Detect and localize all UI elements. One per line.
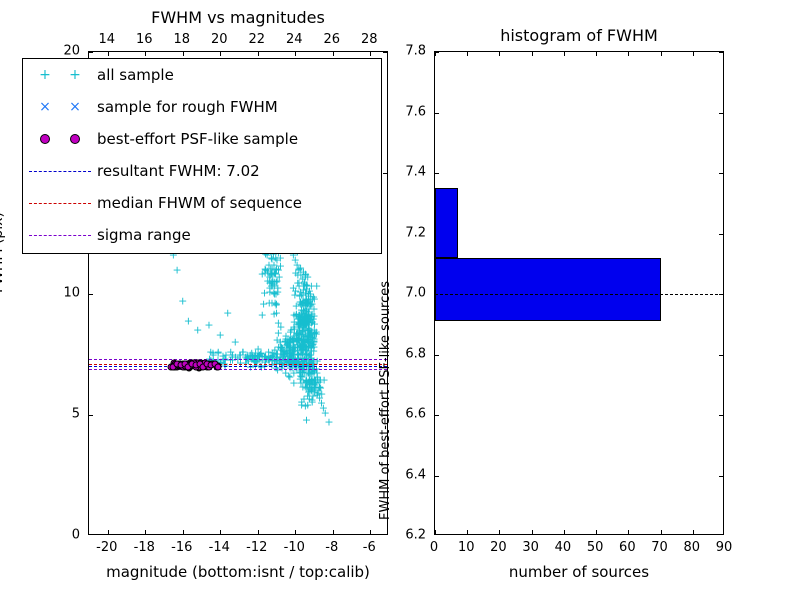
scatter-marker-plus: + <box>302 304 311 315</box>
scatter-marker-plus: + <box>303 325 312 336</box>
scatter-marker-plus: + <box>273 282 282 293</box>
scatter-marker-plus: + <box>302 311 311 322</box>
scatter-marker-plus: + <box>265 282 274 293</box>
scatter-marker-plus: + <box>297 329 306 340</box>
scatter-marker-plus: + <box>303 281 312 292</box>
scatter-marker-plus: + <box>270 268 279 279</box>
scatter-marker-plus: + <box>270 345 279 356</box>
legend-line <box>29 203 91 204</box>
scatter-marker-plus: + <box>313 390 322 401</box>
scatter-marker-plus: + <box>298 338 307 349</box>
legend-label: all sample <box>97 66 174 84</box>
scatter-marker-plus: + <box>272 276 281 287</box>
scatter-marker-plus: + <box>266 353 275 364</box>
scatter-marker-plus: + <box>297 309 306 320</box>
y-tick-right <box>719 234 723 235</box>
scatter-marker-plus: + <box>308 332 317 343</box>
scatter-marker-plus: + <box>310 382 319 393</box>
x-tick <box>467 530 468 534</box>
scatter-marker-plus: + <box>268 279 277 290</box>
scatter-marker-plus: + <box>297 371 306 382</box>
scatter-marker-plus: + <box>263 275 272 286</box>
x-tick-top <box>108 52 109 56</box>
scatter-marker-plus: + <box>273 287 282 298</box>
x-tick-label: -14 <box>209 540 230 555</box>
scatter-marker-plus: + <box>267 277 276 288</box>
left-y-axis-label: FWHM (pix) <box>0 212 6 293</box>
scatter-marker-plus: + <box>302 317 311 328</box>
scatter-marker-plus: + <box>315 374 324 385</box>
scatter-marker-plus: + <box>301 312 310 323</box>
scatter-marker-plus: + <box>276 352 285 363</box>
scatter-marker-plus: + <box>241 352 250 363</box>
scatter-marker-plus: + <box>305 375 314 386</box>
scatter-marker-plus: + <box>297 396 306 407</box>
legend-row: sigma range <box>23 219 381 251</box>
scatter-marker-plus: + <box>315 382 324 393</box>
x-tick <box>693 530 694 534</box>
scatter-marker-plus: + <box>274 327 283 338</box>
scatter-marker-plus: + <box>301 314 310 325</box>
scatter-marker-plus: + <box>307 375 316 386</box>
scatter-marker-plus: + <box>296 319 305 330</box>
x-tick-top <box>258 52 259 56</box>
scatter-marker-plus: + <box>272 334 281 345</box>
scatter-marker-plus: + <box>313 374 322 385</box>
scatter-marker-plus: + <box>270 309 279 320</box>
scatter-marker-plus: + <box>301 270 310 281</box>
scatter-marker-plus: + <box>278 349 287 360</box>
hline-sigma-range-low <box>89 369 387 370</box>
scatter-marker-plus: + <box>290 341 299 352</box>
scatter-marker-plus: + <box>304 386 313 397</box>
scatter-marker-plus: + <box>288 346 297 357</box>
scatter-marker-plus: + <box>297 300 306 311</box>
legend-marker <box>40 134 50 144</box>
scatter-marker-plus: + <box>280 336 289 347</box>
scatter-marker-plus: + <box>272 299 281 310</box>
scatter-marker-plus: + <box>283 351 292 362</box>
scatter-marker-plus: + <box>204 320 213 331</box>
scatter-marker-plus: + <box>296 313 305 324</box>
scatter-marker-plus: + <box>293 348 302 359</box>
scatter-marker-plus: + <box>268 280 277 291</box>
scatter-marker-plus: + <box>302 312 311 323</box>
scatter-marker-plus: + <box>304 328 313 339</box>
scatter-marker-plus: + <box>307 352 316 363</box>
scatter-marker-plus: + <box>309 335 318 346</box>
scatter-marker-plus: + <box>274 318 283 329</box>
scatter-marker-plus: + <box>309 345 318 356</box>
scatter-marker-plus: + <box>306 331 315 342</box>
scatter-marker-plus: + <box>307 342 316 353</box>
y-tick-label: 10 <box>63 286 80 301</box>
scatter-marker-plus: + <box>305 299 314 310</box>
scatter-marker-plus: + <box>273 348 282 359</box>
scatter-marker-plus: + <box>310 375 319 386</box>
scatter-marker-plus: + <box>313 372 322 383</box>
scatter-marker-plus: + <box>308 396 317 407</box>
scatter-marker-plus: + <box>303 382 312 393</box>
scatter-marker-plus: + <box>296 287 305 298</box>
scatter-marker-plus: + <box>289 321 298 332</box>
scatter-marker-plus: + <box>306 345 315 356</box>
scatter-marker-plus: + <box>296 377 305 388</box>
scatter-marker-plus: + <box>313 374 322 385</box>
x-tick <box>499 530 500 534</box>
scatter-marker-plus: + <box>277 341 286 352</box>
scatter-marker-plus: + <box>307 311 316 322</box>
scatter-marker-plus: + <box>272 308 281 319</box>
scatter-marker-plus: + <box>306 315 315 326</box>
x-tick-label: -10 <box>284 540 305 555</box>
scatter-marker-plus: + <box>309 310 318 321</box>
scatter-marker-plus: + <box>307 383 316 394</box>
legend-row: median FHWM of sequence <box>23 187 381 219</box>
scatter-marker-plus: + <box>298 314 307 325</box>
scatter-marker-plus: + <box>308 328 317 339</box>
scatter-marker-plus: + <box>303 314 312 325</box>
scatter-marker-plus: + <box>303 272 312 283</box>
y-tick-right <box>719 415 723 416</box>
histogram-data-area <box>435 52 723 534</box>
scatter-marker-plus: + <box>302 284 311 295</box>
scatter-marker-plus: + <box>288 353 297 364</box>
scatter-marker-plus: + <box>302 341 311 352</box>
scatter-marker-plus: + <box>307 375 316 386</box>
scatter-marker-plus: + <box>297 344 306 355</box>
scatter-marker-plus: + <box>313 388 322 399</box>
scatter-marker-plus: + <box>281 335 290 346</box>
scatter-marker-plus: + <box>300 311 309 322</box>
scatter-marker-plus: + <box>315 393 324 404</box>
scatter-marker-plus: + <box>304 327 313 338</box>
scatter-marker-plus: + <box>310 318 319 329</box>
scatter-marker-plus: + <box>295 280 304 291</box>
scatter-marker-plus: + <box>296 298 305 309</box>
scatter-marker-plus: + <box>298 274 307 285</box>
scatter-marker-plus: + <box>306 288 315 299</box>
scatter-marker-plus: + <box>290 289 299 300</box>
scatter-marker-plus: + <box>308 298 317 309</box>
y-tick-label: 7.6 <box>405 104 426 119</box>
scatter-marker-plus: + <box>298 289 307 300</box>
scatter-marker-plus: + <box>310 374 319 385</box>
y-tick-label: 6.6 <box>405 407 426 422</box>
scatter-marker-plus: + <box>290 317 299 328</box>
scatter-marker-plus: + <box>298 339 307 350</box>
scatter-marker-plus: + <box>299 334 308 345</box>
scatter-marker-plus: + <box>276 260 285 271</box>
scatter-marker-plus: + <box>307 327 316 338</box>
scatter-marker-plus: + <box>316 375 325 386</box>
scatter-marker-plus: + <box>296 371 305 382</box>
scatter-marker-plus: + <box>272 254 281 265</box>
scatter-marker-plus: + <box>206 347 215 358</box>
legend-row: best-effort PSF-like sample <box>23 123 381 155</box>
scatter-marker-plus: + <box>268 347 277 358</box>
scatter-marker-plus: + <box>299 267 308 278</box>
y-tick-right <box>719 52 723 53</box>
scatter-marker-plus: + <box>308 390 317 401</box>
scatter-marker-plus: + <box>267 268 276 279</box>
x-tick-top-label: 16 <box>136 32 153 47</box>
scatter-marker-plus: + <box>289 332 298 343</box>
scatter-marker-plus: + <box>248 352 257 363</box>
scatter-marker-plus: + <box>294 318 303 329</box>
scatter-marker-plus: + <box>297 341 306 352</box>
scatter-marker-plus: + <box>292 310 301 321</box>
scatter-marker-plus: + <box>299 344 308 355</box>
legend-symbol-plus-marker-icon: ++ <box>23 59 97 91</box>
scatter-marker-plus: + <box>298 328 307 339</box>
y-tick <box>435 52 439 53</box>
scatter-marker-plus: + <box>304 340 313 351</box>
legend-row: ++all sample <box>23 59 381 91</box>
scatter-marker-plus: + <box>306 293 315 304</box>
scatter-marker-plus: + <box>294 321 303 332</box>
scatter-marker-plus: + <box>301 287 310 298</box>
scatter-marker-plus: + <box>294 334 303 345</box>
x-tick-top <box>532 52 533 56</box>
x-tick <box>435 530 436 534</box>
legend-label: sample for rough FWHM <box>97 98 278 116</box>
x-tick-top-label: 18 <box>173 32 190 47</box>
scatter-marker-plus: + <box>300 312 309 323</box>
scatter-marker-plus: + <box>299 342 308 353</box>
legend-line <box>29 171 91 172</box>
y-tick-right <box>719 476 723 477</box>
scatter-marker-plus: + <box>289 339 298 350</box>
scatter-marker-plus: + <box>310 383 319 394</box>
scatter-marker-plus: + <box>294 339 303 350</box>
scatter-marker-plus: + <box>299 337 308 348</box>
scatter-marker-plus: + <box>299 322 308 333</box>
x-tick-top <box>661 52 662 56</box>
y-tick-right <box>383 52 387 53</box>
scatter-marker-plus: + <box>184 315 193 326</box>
scatter-marker-plus: + <box>311 377 320 388</box>
scatter-marker-plus: + <box>294 334 303 345</box>
scatter-marker-plus: + <box>306 329 315 340</box>
y-tick-label: 20 <box>63 44 80 59</box>
scatter-marker-plus: + <box>304 320 313 331</box>
y-tick-label: 5 <box>72 407 80 422</box>
scatter-marker-plus: + <box>304 290 313 301</box>
scatter-marker-plus: + <box>301 376 310 387</box>
scatter-marker-plus: + <box>295 317 304 328</box>
scatter-marker-plus: + <box>298 342 307 353</box>
hline-resultant-fwhm <box>435 294 723 295</box>
scatter-marker-plus: + <box>292 310 301 321</box>
scatter-marker-plus: + <box>306 386 315 397</box>
scatter-marker-plus: + <box>267 281 276 292</box>
scatter-marker-plus: + <box>301 382 310 393</box>
x-tick-label: -12 <box>246 540 267 555</box>
x-tick <box>220 530 221 534</box>
scatter-marker-plus: + <box>264 259 273 270</box>
x-tick <box>333 530 334 534</box>
scatter-marker-plus: + <box>269 260 278 271</box>
scatter-marker-plus: + <box>308 339 317 350</box>
scatter-marker-plus: + <box>298 308 307 319</box>
scatter-marker-plus: + <box>304 322 313 333</box>
scatter-marker-plus: + <box>296 297 305 308</box>
scatter-marker-plus: + <box>309 334 318 345</box>
x-tick-label: -6 <box>363 540 376 555</box>
scatter-marker-plus: + <box>261 263 270 274</box>
scatter-marker-plus: + <box>302 334 311 345</box>
scatter-marker-plus: + <box>273 275 282 286</box>
right-y-axis-label: FWHM of best-effort PSF-like sources <box>378 281 393 520</box>
scatter-marker-plus: + <box>303 312 312 323</box>
scatter-marker-plus: + <box>307 346 316 357</box>
x-tick-label: 80 <box>683 540 700 555</box>
scatter-marker-plus: + <box>282 340 291 351</box>
scatter-marker-plus: + <box>226 347 235 358</box>
scatter-marker-plus: + <box>286 324 295 335</box>
x-tick-label: -8 <box>325 540 338 555</box>
scatter-marker-plus: + <box>286 327 295 338</box>
scatter-marker-plus: + <box>289 345 298 356</box>
y-tick-label: 6.2 <box>405 528 426 543</box>
scatter-marker-plus: + <box>317 397 326 408</box>
scatter-marker-plus: + <box>281 334 290 345</box>
scatter-marker-plus: + <box>266 353 275 364</box>
scatter-marker-plus: + <box>293 259 302 270</box>
scatter-marker-plus: + <box>307 375 316 386</box>
scatter-marker-plus: + <box>315 381 324 392</box>
scatter-marker-plus: + <box>294 310 303 321</box>
scatter-marker-plus: + <box>223 308 232 319</box>
scatter-marker-plus: + <box>178 296 187 307</box>
x-tick-top <box>145 52 146 56</box>
scatter-marker-plus: + <box>283 339 292 350</box>
scatter-marker-plus: + <box>308 293 317 304</box>
scatter-marker-plus: + <box>301 268 310 279</box>
scatter-marker-plus: + <box>298 341 307 352</box>
scatter-marker-plus: + <box>257 348 266 359</box>
scatter-marker-plus: + <box>302 299 311 310</box>
scatter-marker-plus: + <box>319 374 328 385</box>
scatter-marker-plus: + <box>298 345 307 356</box>
figure-canvas: FWHM vs magnitudes +++++++++++++++++++++… <box>0 0 800 600</box>
scatter-marker-plus: + <box>304 313 313 324</box>
scatter-marker-plus: + <box>256 348 265 359</box>
legend-symbol-cross-marker-icon: ×× <box>23 91 97 123</box>
scatter-marker-plus: + <box>294 335 303 346</box>
scatter-marker-plus: + <box>305 379 314 390</box>
scatter-marker-plus: + <box>271 268 280 279</box>
scatter-marker-plus: + <box>295 328 304 339</box>
scatter-marker-plus: + <box>299 340 308 351</box>
scatter-marker-plus: + <box>276 344 285 355</box>
scatter-marker-plus: + <box>268 276 277 287</box>
scatter-marker-plus: + <box>296 374 305 385</box>
scatter-marker-plus: + <box>275 271 284 282</box>
scatter-marker-plus: + <box>294 329 303 340</box>
y-tick <box>435 173 439 174</box>
scatter-marker-plus: + <box>304 334 313 345</box>
x-tick-label: 60 <box>619 540 636 555</box>
scatter-marker-plus: + <box>300 342 309 353</box>
y-tick-right <box>383 173 387 174</box>
x-tick <box>532 530 533 534</box>
legend-label: median FHWM of sequence <box>97 194 302 212</box>
x-tick-label: 10 <box>458 540 475 555</box>
scatter-marker-plus: + <box>271 264 280 275</box>
x-tick-top-label: 28 <box>361 32 378 47</box>
scatter-marker-plus: + <box>301 314 310 325</box>
scatter-marker-plus: + <box>301 318 310 329</box>
scatter-marker-plus: + <box>279 345 288 356</box>
x-tick <box>370 530 371 534</box>
scatter-marker-plus: + <box>302 319 311 330</box>
scatter-marker-plus: + <box>286 334 295 345</box>
scatter-marker-plus: + <box>304 308 313 319</box>
y-tick-right <box>719 355 723 356</box>
x-tick-label: 20 <box>490 540 507 555</box>
scatter-marker-plus: + <box>308 316 317 327</box>
scatter-marker-plus: + <box>304 331 313 342</box>
scatter-marker-plus: + <box>261 268 270 279</box>
scatter-marker-plus: + <box>292 328 301 339</box>
x-tick-top-label: 24 <box>286 32 303 47</box>
scatter-marker-plus: + <box>302 314 311 325</box>
scatter-marker-plus: + <box>305 285 314 296</box>
scatter-marker-plus: + <box>304 338 313 349</box>
x-tick-top-label: 22 <box>248 32 265 47</box>
scatter-marker-plus: + <box>302 279 311 290</box>
scatter-marker-plus: + <box>304 289 313 300</box>
scatter-marker-plus: + <box>301 301 310 312</box>
scatter-marker-plus: + <box>243 352 252 363</box>
scatter-marker-plus: + <box>295 319 304 330</box>
scatter-marker-plus: + <box>263 266 272 277</box>
y-tick <box>89 415 93 416</box>
scatter-marker-plus: + <box>305 327 314 338</box>
scatter-marker-plus: + <box>294 264 303 275</box>
scatter-marker-plus: + <box>302 294 311 305</box>
scatter-marker-plus: + <box>311 374 320 385</box>
hline-median-fhwm-of-sequence <box>89 364 387 365</box>
scatter-marker-plus: + <box>306 300 315 311</box>
scatter-marker-plus: + <box>298 295 307 306</box>
scatter-marker-plus: + <box>310 325 319 336</box>
scatter-marker-plus: + <box>304 298 313 309</box>
scatter-marker-plus: + <box>300 313 309 324</box>
scatter-marker-plus: + <box>301 312 310 323</box>
scatter-marker-plus: + <box>300 316 309 327</box>
scatter-marker-plus: + <box>283 346 292 357</box>
scatter-marker-plus: + <box>304 311 313 322</box>
scatter-marker-plus: + <box>301 319 310 330</box>
scatter-marker-plus: + <box>314 377 323 388</box>
scatter-marker-plus: + <box>302 308 311 319</box>
scatter-marker-plus: + <box>297 318 306 329</box>
legend-row: ××sample for rough FWHM <box>23 91 381 123</box>
hline-resultant-fwhm <box>89 366 387 367</box>
scatter-marker-plus: + <box>269 287 278 298</box>
scatter-marker-plus: + <box>301 377 310 388</box>
scatter-marker-plus: + <box>302 318 311 329</box>
scatter-marker-plus: + <box>309 339 318 350</box>
scatter-marker-plus: + <box>298 337 307 348</box>
scatter-marker-plus: + <box>299 321 308 332</box>
scatter-marker-plus: + <box>296 312 305 323</box>
scatter-marker-plus: + <box>254 343 263 354</box>
scatter-marker-plus: + <box>231 337 240 348</box>
